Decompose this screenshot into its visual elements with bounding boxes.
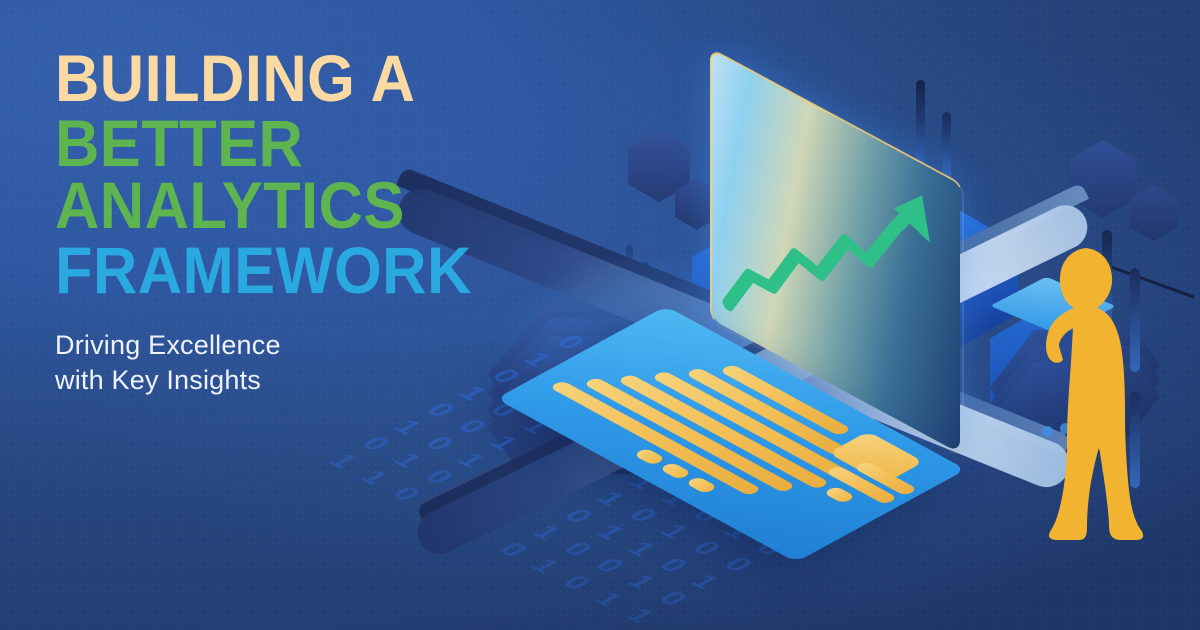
person-silhouette: [1025, 240, 1165, 540]
keyboard-dot: [823, 486, 856, 504]
subtitle-line-1: Driving Excellence: [55, 328, 635, 363]
promo-banner: 0 0 1 1 0 1 0 1 0 0 1 0 1 0 1 0 0 1 1 0 …: [0, 0, 1200, 630]
hexagon-decor-icon: [1130, 185, 1178, 241]
headline-block: BUILDING A BETTER ANALYTICS FRAMEWORK Dr…: [55, 48, 635, 398]
keyboard-dot: [633, 448, 666, 466]
title-line-1: BUILDING A: [55, 48, 594, 109]
keyboard-dot: [685, 476, 718, 494]
subtitle: Driving Excellence with Key Insights: [55, 328, 635, 398]
title-line-2: BETTER ANALYTICS: [55, 113, 594, 236]
keyboard-dot: [659, 462, 692, 480]
page-title: BUILDING A BETTER ANALYTICS FRAMEWORK: [55, 48, 594, 302]
subtitle-line-2: with Key Insights: [55, 363, 635, 398]
title-line-3: FRAMEWORK: [55, 240, 594, 301]
